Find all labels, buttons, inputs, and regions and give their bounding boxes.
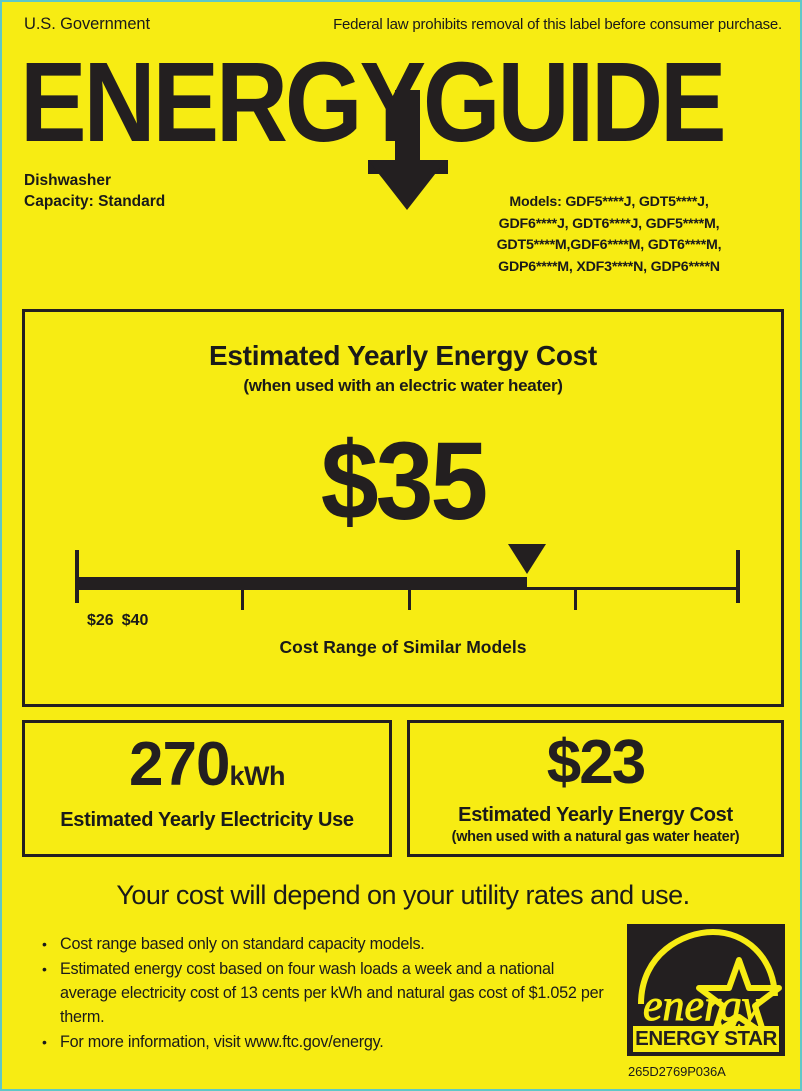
model-numbers: Models: GDF5****J, GDT5****J, GDF6****J,… xyxy=(444,192,774,278)
top-strip: U.S. Government Federal law prohibits re… xyxy=(2,12,802,36)
cost-range-scale: $26$40 xyxy=(75,540,740,620)
scale-tick-mid-2 xyxy=(408,590,411,610)
scale-bar-fill xyxy=(75,577,527,587)
product-type: Dishwasher xyxy=(24,170,165,191)
electricity-caption: Estimated Yearly Electricity Use xyxy=(25,809,389,832)
scale-bar-track xyxy=(75,577,740,587)
product-capacity: Capacity: Standard xyxy=(24,191,165,212)
electricity-value: 270 xyxy=(129,730,229,799)
scale-tick-min xyxy=(75,550,79,603)
footer-headline: Your cost will depend on your utility ra… xyxy=(2,880,802,911)
gas-cost-subcaption: (when used with a natural gas water heat… xyxy=(410,829,781,845)
scale-tick-mid-1 xyxy=(241,590,244,610)
main-box-title: Estimated Yearly Energy Cost xyxy=(25,340,781,372)
us-government-label: U.S. Government xyxy=(24,15,150,34)
footer-bullet-list: Cost range based only on standard capaci… xyxy=(40,932,610,1055)
electricity-value-line: 270kWh xyxy=(25,729,389,800)
models-line-2: GDF6****J, GDT6****J, GDF5****M, xyxy=(444,214,774,236)
gas-cost-caption: Estimated Yearly Energy Cost xyxy=(410,804,781,827)
estimated-yearly-energy-cost-box: Estimated Yearly Energy Cost (when used … xyxy=(22,309,784,707)
down-arrow-stem-icon xyxy=(395,90,420,168)
catalog-number: 265D2769P036A xyxy=(628,1064,726,1079)
product-info: Dishwasher Capacity: Standard xyxy=(24,170,165,212)
footer-bullet-item: Estimated energy cost based on four wash… xyxy=(40,957,610,1029)
cost-range-caption: Cost Range of Similar Models xyxy=(25,637,781,658)
estimated-yearly-gas-cost-box: $23 Estimated Yearly Energy Cost (when u… xyxy=(407,720,784,857)
energyguide-label: U.S. Government Federal law prohibits re… xyxy=(0,0,802,1091)
models-line-3: GDT5****M,GDF6****M, GDT6****M, xyxy=(444,235,774,257)
electricity-unit: kWh xyxy=(229,761,285,791)
energy-script-text: energy xyxy=(643,981,762,1030)
federal-law-notice: Federal law prohibits removal of this la… xyxy=(333,16,782,33)
models-line-4: GDP6****M, XDF3****N, GDP6****N xyxy=(444,257,774,279)
down-arrow-head-icon xyxy=(368,160,446,210)
footer-bullet-item: For more information, visit www.ftc.gov/… xyxy=(40,1030,610,1054)
cost-position-marker-icon xyxy=(508,544,546,574)
scale-tick-mid-3 xyxy=(574,590,577,610)
range-high-label: $40 xyxy=(122,612,149,629)
gas-cost-value: $23 xyxy=(410,727,781,799)
main-box-subtitle: (when used with an electric water heater… xyxy=(25,376,781,396)
scale-range-labels: $26$40 xyxy=(87,612,156,630)
scale-tick-max xyxy=(736,550,740,603)
estimated-yearly-electricity-use-box: 270kWh Estimated Yearly Electricity Use xyxy=(22,720,392,857)
models-line-1: Models: GDF5****J, GDT5****J, xyxy=(444,192,774,214)
energy-star-wordmark: ENERGY STAR xyxy=(633,1026,779,1052)
range-low-label: $26 xyxy=(87,612,114,629)
primary-cost-value: $35 xyxy=(25,427,781,537)
footer-bullet-item: Cost range based only on standard capaci… xyxy=(40,932,610,956)
